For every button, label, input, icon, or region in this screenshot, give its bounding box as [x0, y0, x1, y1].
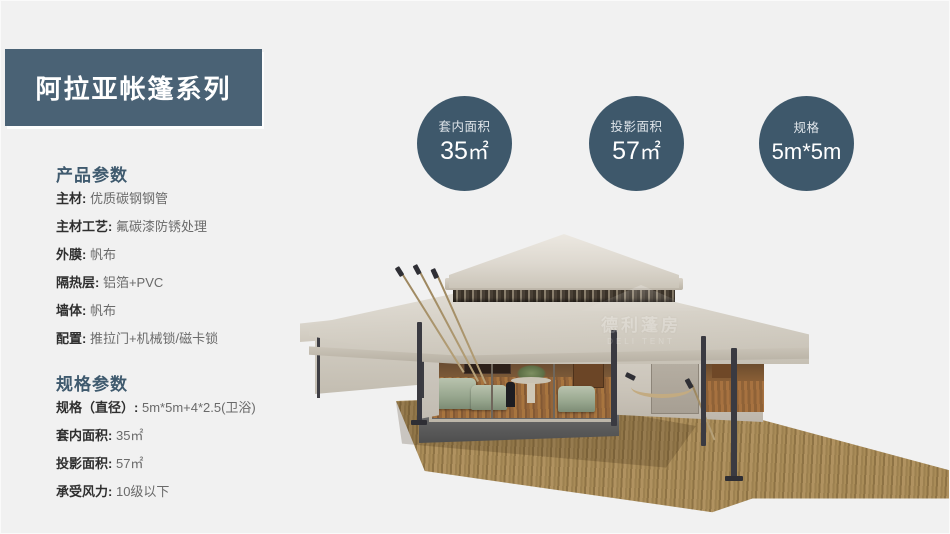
spec-row-projected-area: 投影面积: 57㎡ [56, 457, 143, 471]
stat-label: 套内面积 [438, 119, 490, 135]
spec-row-wind-resistance: 承受风力: 10级以下 [56, 485, 169, 499]
row-value: 铝箔+PVC [103, 275, 163, 290]
product-row-wall: 墙体: 帆布 [56, 304, 116, 318]
row-value: 优质碳钢钢管 [90, 191, 168, 206]
spec-row-interior-area: 套内面积: 35㎡ [56, 429, 143, 443]
row-label: 规格（直径）: [56, 400, 138, 415]
product-row-insulation: 隔热层: 铝箔+PVC [56, 276, 163, 290]
spec-row-dimensions: 规格（直径）: 5m*5m+4*2.5(卫浴) [56, 401, 256, 415]
stat-circle-interior-area: 套内面积 35㎡ [417, 96, 512, 191]
stat-value: 5m*5m [772, 137, 842, 167]
support-post [417, 322, 422, 422]
support-post [611, 330, 617, 426]
row-label: 主材: [56, 191, 86, 206]
support-post [731, 348, 737, 478]
spec-section-heading: 规格参数 [56, 370, 128, 395]
row-label: 隔热层: [56, 275, 99, 290]
row-label: 套内面积: [56, 428, 112, 443]
row-value: 57㎡ [116, 456, 143, 471]
guy-rope-anchor [430, 268, 439, 279]
clerestory-vent [453, 288, 675, 302]
post-base-plate [725, 476, 743, 481]
row-value: 10级以下 [116, 484, 169, 499]
product-section-heading: 产品参数 [56, 161, 128, 186]
row-value: 5m*5m+4*2.5(卫浴) [142, 400, 256, 415]
row-value: 氟碳漆防锈处理 [116, 219, 207, 234]
stat-circle-projected-area: 投影面积 57㎡ [589, 96, 684, 191]
stat-label: 规格 [793, 120, 819, 136]
row-label: 承受风力: [56, 484, 112, 499]
row-label: 外膜: [56, 247, 86, 262]
support-post [701, 336, 706, 446]
parameters-panel: 产品参数 主材: 优质碳钢钢管 主材工艺: 氟碳漆防锈处理 外膜: 帆布 隔热层… [1, 1, 331, 534]
product-row-material-process: 主材工艺: 氟碳漆防锈处理 [56, 220, 207, 234]
row-label: 墙体: [56, 303, 86, 318]
upper-hip-roof [449, 234, 679, 288]
product-row-configuration: 配置: 推拉门+机械锁/磁卡锁 [56, 332, 218, 346]
stat-circle-dimensions: 规格 5m*5m [759, 96, 854, 191]
stat-label: 投影面积 [610, 119, 662, 135]
stat-value: 35㎡ [440, 136, 489, 168]
right-guy-sling [631, 376, 693, 398]
guy-rope-anchor [413, 264, 422, 275]
row-label: 投影面积: [56, 456, 112, 471]
product-row-outer-membrane: 外膜: 帆布 [56, 248, 116, 262]
row-value: 35㎡ [116, 428, 143, 443]
product-row-main-material: 主材: 优质碳钢钢管 [56, 192, 168, 206]
row-label: 配置: [56, 331, 86, 346]
row-value: 推拉门+机械锁/磁卡锁 [90, 331, 218, 346]
tent-product-illustration: 德利蓬房 DELI TENT [301, 226, 950, 516]
slide-canvas: 阿拉亚帐篷系列 产品参数 主材: 优质碳钢钢管 主材工艺: 氟碳漆防锈处理 外膜… [0, 0, 950, 534]
stat-value: 57㎡ [612, 136, 661, 168]
post-base-plate [411, 420, 427, 425]
row-value: 帆布 [90, 247, 116, 262]
row-label: 主材工艺: [56, 219, 112, 234]
row-value: 帆布 [90, 303, 116, 318]
